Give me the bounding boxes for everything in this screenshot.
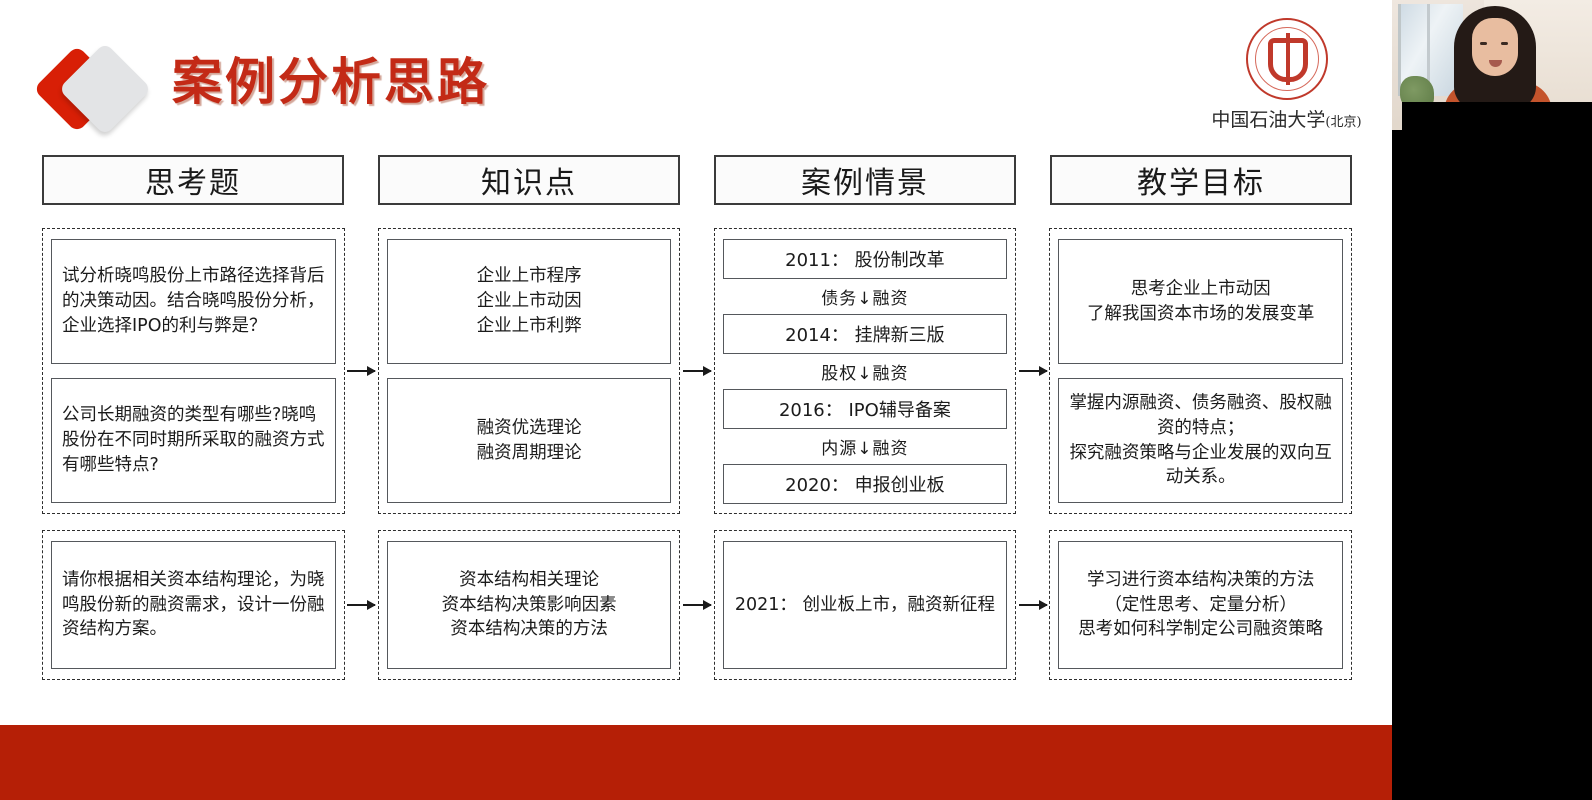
thinking-question-3: 请你根据相关资本结构理论，为晓鸣股份新的融资需求，设计一份融资结构方案。: [51, 541, 336, 669]
presenter-video-frame: [1392, 0, 1592, 130]
timeline-link-debt-financing: 债务↓融资: [723, 279, 1008, 314]
timeline-event-2021: 2021： 创业板上市，融资新征程: [723, 541, 1008, 669]
content-grid: 试分析晓鸣股份上市路径选择背后的决策动因。结合晓鸣股份分析，企业选择IPO的利与…: [42, 228, 1352, 696]
row1-thinking-questions-cell: 试分析晓鸣股份上市路径选择背后的决策动因。结合晓鸣股份分析，企业选择IPO的利与…: [42, 228, 345, 514]
column-header-knowledge-points: 知识点: [378, 155, 680, 205]
arrow-right-icon: [1019, 604, 1047, 606]
column-headers: 思考题 知识点 案例情景 教学目标: [42, 155, 1352, 205]
timeline-event-2014: 2014： 挂牌新三版: [723, 314, 1008, 354]
thinking-question-2: 公司长期融资的类型有哪些?晓鸣股份在不同时期所采取的融资方式有哪些特点?: [51, 378, 336, 503]
column-header-teaching-objectives: 教学目标: [1050, 155, 1352, 205]
presenter-mouth: [1489, 60, 1502, 67]
arrow-right-icon: [683, 604, 711, 606]
presenter-eye-right: [1501, 42, 1508, 45]
case-timeline: 2011： 股份制改革 债务↓融资 2014： 挂牌新三版 股权↓融资 2016…: [723, 239, 1008, 503]
arrow-connector-4: [345, 530, 378, 680]
content-row-1: 试分析晓鸣股份上市路径选择背后的决策动因。结合晓鸣股份分析，企业选择IPO的利与…: [42, 228, 1352, 514]
row1-case-scenario-cell: 2011： 股份制改革 债务↓融资 2014： 挂牌新三版 股权↓融资 2016…: [714, 228, 1017, 514]
arrow-right-icon: [347, 370, 375, 372]
knowledge-point-1: 企业上市程序 企业上市动因 企业上市利弊: [387, 239, 672, 364]
presenter-eye-left: [1480, 42, 1487, 45]
column-header-case-scenario: 案例情景: [714, 155, 1016, 205]
diamond-logo-icon: [46, 42, 142, 138]
dashed-container: 思考企业上市动因 了解我国资本市场的发展变革 掌握内源融资、债务融资、股权融资的…: [1049, 228, 1352, 514]
row1-teaching-objectives-cell: 思考企业上市动因 了解我国资本市场的发展变革 掌握内源融资、债务融资、股权融资的…: [1049, 228, 1352, 514]
slide-header: 案例分析思路 中国石油大学(北京): [0, 0, 1392, 150]
arrow-connector-6: [1016, 530, 1049, 680]
university-seal-icon: [1246, 18, 1328, 100]
video-letterbox-bar: [1402, 102, 1592, 130]
arrow-right-icon: [683, 370, 711, 372]
row1-knowledge-points-cell: 企业上市程序 企业上市动因 企业上市利弊 融资优选理论 融资周期理论: [378, 228, 681, 514]
university-name: 中国石油大学(北京): [1199, 105, 1374, 132]
row2-case-scenario-cell: 2021： 创业板上市，融资新征程: [714, 530, 1017, 680]
video-panel-filler: [1392, 130, 1592, 800]
teaching-objective-2: 掌握内源融资、债务融资、股权融资的特点； 探究融资策略与企业发展的双向互动关系。: [1058, 378, 1343, 503]
university-campus-text: (北京): [1325, 115, 1361, 130]
teaching-objective-3: 学习进行资本结构决策的方法 （定性思考、定量分析） 思考如何科学制定公司融资策略: [1058, 541, 1343, 669]
arrow-connector-1: [345, 228, 378, 514]
university-logo: 中国石油大学(北京): [1199, 18, 1374, 132]
presentation-slide: 案例分析思路 中国石油大学(北京) 思考题 知识点 案例情景 教学目标 试分析晓…: [0, 0, 1392, 800]
dashed-container: 资本结构相关理论 资本结构决策影响因素 资本结构决策的方法: [378, 530, 681, 680]
timeline-event-2016: 2016： IPO辅导备案: [723, 389, 1008, 429]
arrow-connector-2: [680, 228, 713, 514]
presenter-face: [1472, 18, 1518, 76]
arrow-right-icon: [347, 604, 375, 606]
dashed-container: 2021： 创业板上市，融资新征程: [714, 530, 1017, 680]
page-title: 案例分析思路: [172, 52, 490, 112]
knowledge-point-2: 融资优选理论 融资周期理论: [387, 378, 672, 503]
column-header-thinking-questions: 思考题: [42, 155, 344, 205]
timeline-link-equity-financing: 股权↓融资: [723, 354, 1008, 389]
arrow-connector-3: [1016, 228, 1049, 514]
dashed-container: 学习进行资本结构决策的方法 （定性思考、定量分析） 思考如何科学制定公司融资策略: [1049, 530, 1352, 680]
teaching-objective-1: 思考企业上市动因 了解我国资本市场的发展变革: [1058, 239, 1343, 364]
footer-red-band: [0, 725, 1392, 800]
dashed-container: 企业上市程序 企业上市动因 企业上市利弊 融资优选理论 融资周期理论: [378, 228, 681, 514]
dashed-container: 试分析晓鸣股份上市路径选择背后的决策动因。结合晓鸣股份分析，企业选择IPO的利与…: [42, 228, 345, 514]
timeline-event-2020: 2020： 申报创业板: [723, 464, 1008, 504]
arrow-connector-5: [680, 530, 713, 680]
presenter-video-panel[interactable]: [1392, 0, 1592, 800]
dashed-container: 请你根据相关资本结构理论，为晓鸣股份新的融资需求，设计一份融资结构方案。: [42, 530, 345, 680]
timeline-link-internal-financing: 内源↓融资: [723, 429, 1008, 464]
dashed-container: 2011： 股份制改革 债务↓融资 2014： 挂牌新三版 股权↓融资 2016…: [714, 228, 1017, 514]
row2-teaching-objective-cell: 学习进行资本结构决策的方法 （定性思考、定量分析） 思考如何科学制定公司融资策略: [1049, 530, 1352, 680]
seal-inner-glyph: [1268, 38, 1308, 82]
university-name-text: 中国石油大学: [1211, 109, 1325, 131]
row2-knowledge-point-cell: 资本结构相关理论 资本结构决策影响因素 资本结构决策的方法: [378, 530, 681, 680]
content-row-2: 请你根据相关资本结构理论，为晓鸣股份新的融资需求，设计一份融资结构方案。 资本结…: [42, 530, 1352, 680]
arrow-right-icon: [1019, 370, 1047, 372]
thinking-question-1: 试分析晓鸣股份上市路径选择背后的决策动因。结合晓鸣股份分析，企业选择IPO的利与…: [51, 239, 336, 364]
screen-root: 案例分析思路 中国石油大学(北京) 思考题 知识点 案例情景 教学目标 试分析晓…: [0, 0, 1592, 800]
knowledge-point-3: 资本结构相关理论 资本结构决策影响因素 资本结构决策的方法: [387, 541, 672, 669]
row2-thinking-question-cell: 请你根据相关资本结构理论，为晓鸣股份新的融资需求，设计一份融资结构方案。: [42, 530, 345, 680]
timeline-event-2011: 2011： 股份制改革: [723, 239, 1008, 279]
